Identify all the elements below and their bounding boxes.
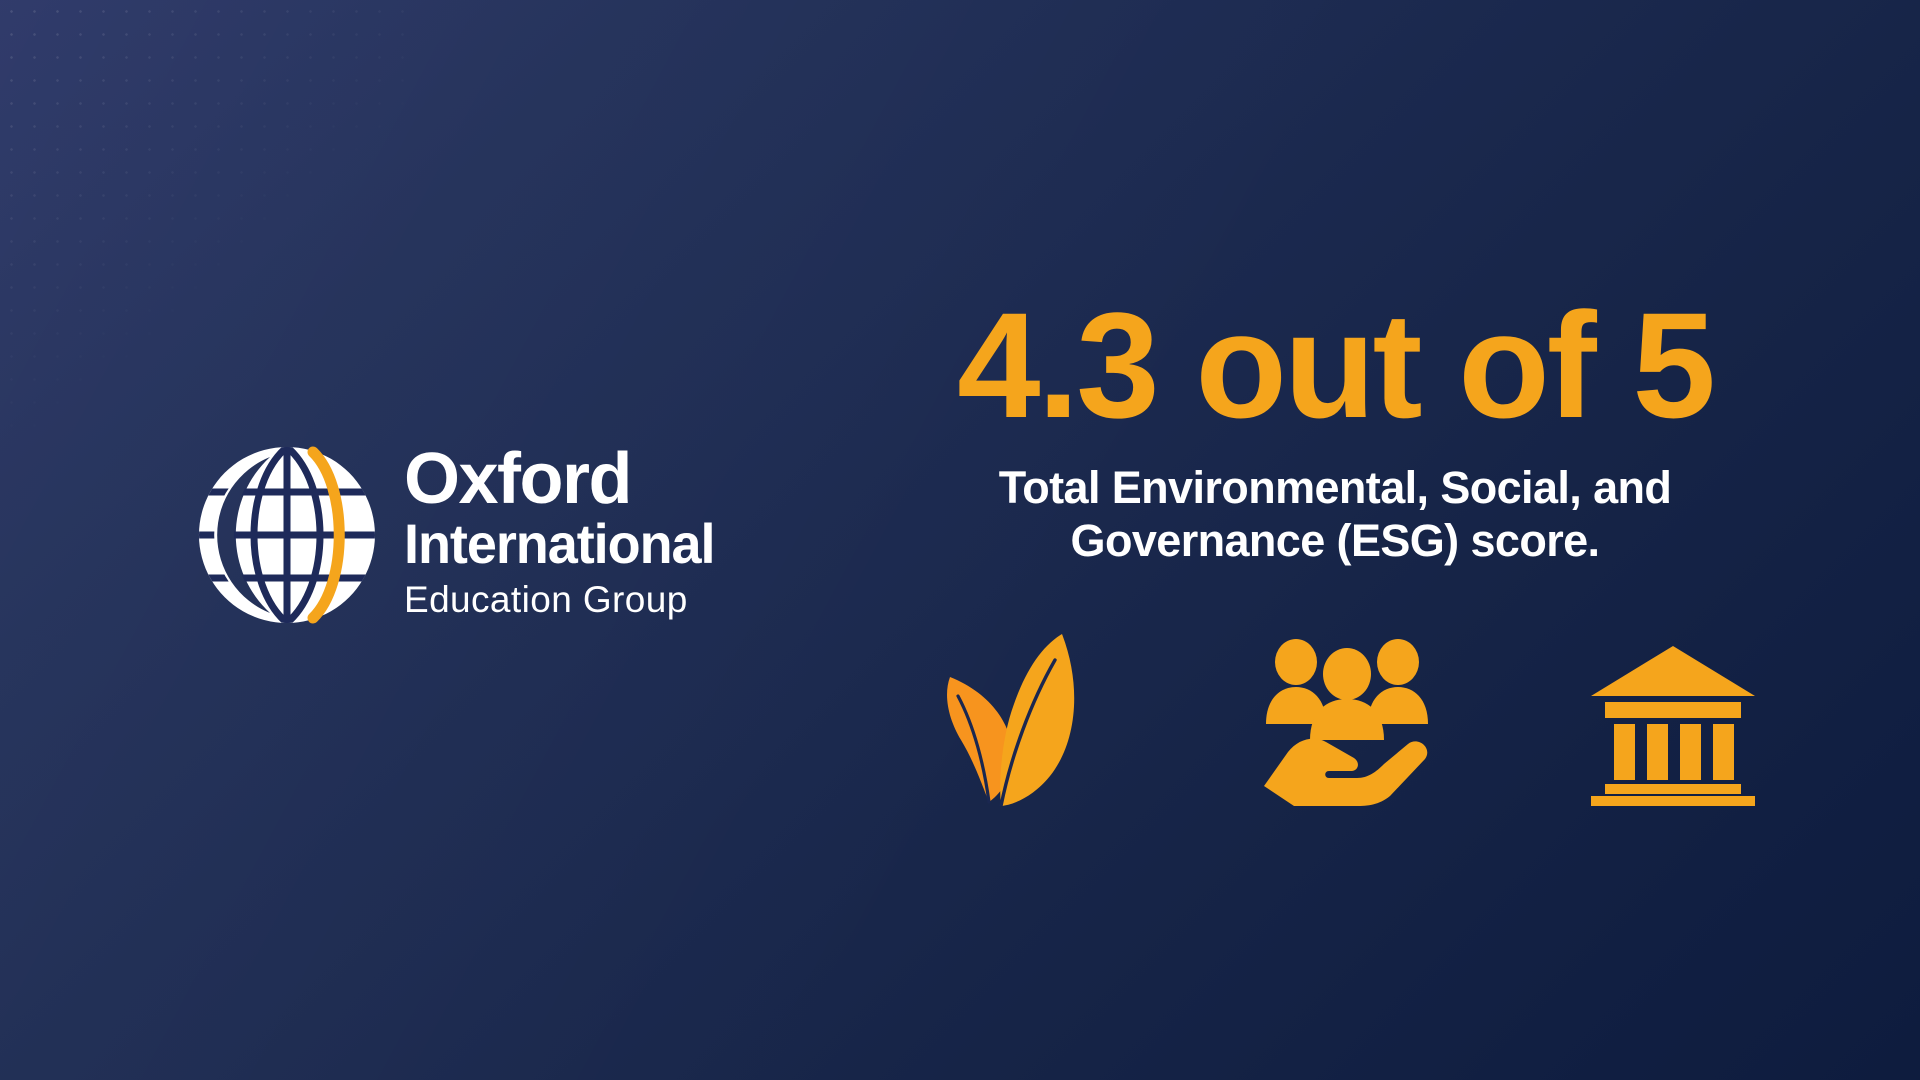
logo-line-international: International <box>404 515 714 572</box>
esg-score-slide: Oxford International Education Group 4.3… <box>0 0 1920 1080</box>
building-column-4 <box>1713 724 1734 780</box>
building-pediment <box>1591 646 1755 696</box>
building-base-lower <box>1591 796 1755 806</box>
globe-grid <box>196 444 378 626</box>
dot-pattern-texture <box>0 0 420 430</box>
person-right-head <box>1377 639 1419 685</box>
logo-wordmark: Oxford International Education Group <box>404 444 726 620</box>
person-left-head <box>1275 639 1317 685</box>
esg-score-caption: Total Environmental, Social, and Governa… <box>880 462 1790 567</box>
leaves-icon <box>911 630 1107 806</box>
esg-caption-line-2: Governance (ESG) score. <box>880 515 1790 568</box>
building-architrave <box>1605 702 1741 718</box>
esg-caption-line-1: Total Environmental, Social, and <box>880 462 1790 515</box>
esg-pillar-icons <box>905 630 1765 806</box>
people-in-hand-icon <box>1258 636 1436 806</box>
classical-building-icon <box>1587 644 1759 806</box>
oxford-international-logo: Oxford International Education Group <box>196 444 726 626</box>
logo-line-oxford: Oxford <box>404 449 726 511</box>
person-center-head <box>1323 648 1371 700</box>
building-column-3 <box>1680 724 1701 780</box>
esg-score-panel: 4.3 out of 5 Total Environmental, Social… <box>880 290 1790 567</box>
building-column-1 <box>1614 724 1635 780</box>
leaf-large <box>1000 634 1074 806</box>
building-base-upper <box>1605 784 1741 794</box>
logo-line-education-group: Education Group <box>404 579 726 620</box>
globe-icon <box>196 444 378 626</box>
hand-shape <box>1264 739 1427 806</box>
building-column-2 <box>1647 724 1668 780</box>
esg-score-headline: 4.3 out of 5 <box>880 290 1790 440</box>
people-group <box>1266 639 1428 740</box>
